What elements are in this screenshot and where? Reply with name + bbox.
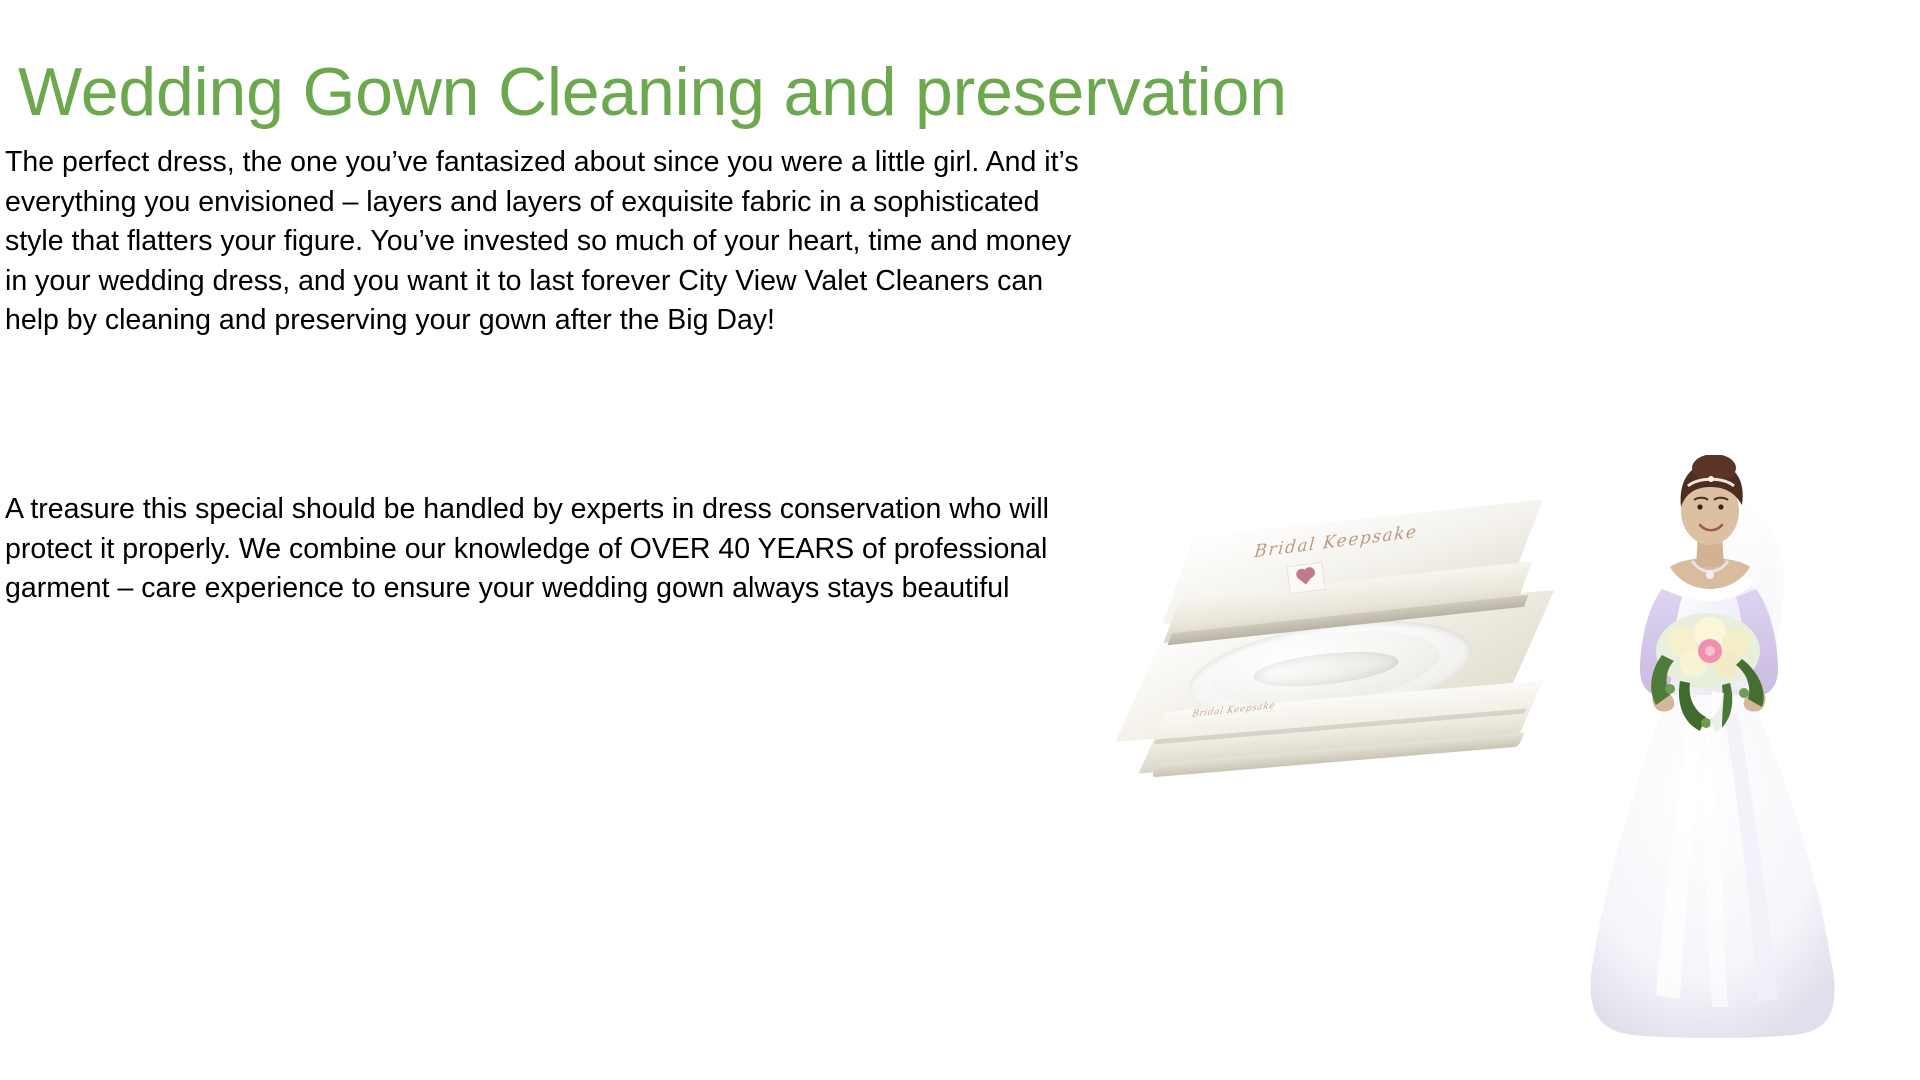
tiara-jewel [1708,476,1714,482]
body-paragraph-2: A treasure this special should be handle… [5,490,1125,609]
bride-right-eye [1718,504,1723,509]
bride-artwork [1530,455,1890,1045]
box-clasp-tab [1286,562,1325,594]
bride-photo: Smiling bride in a white off-the-shoulde… [1530,455,1890,1045]
necklace-pendant [1706,571,1714,579]
slide-canvas: Wedding Gown Cleaning and preservation T… [0,0,1920,1080]
bride-left-eye [1697,504,1702,509]
heart-icon [1298,570,1313,585]
body-paragraph-1: The perfect dress, the one you’ve fantas… [5,143,1095,341]
page-title: Wedding Gown Cleaning and preservation [18,54,1718,132]
